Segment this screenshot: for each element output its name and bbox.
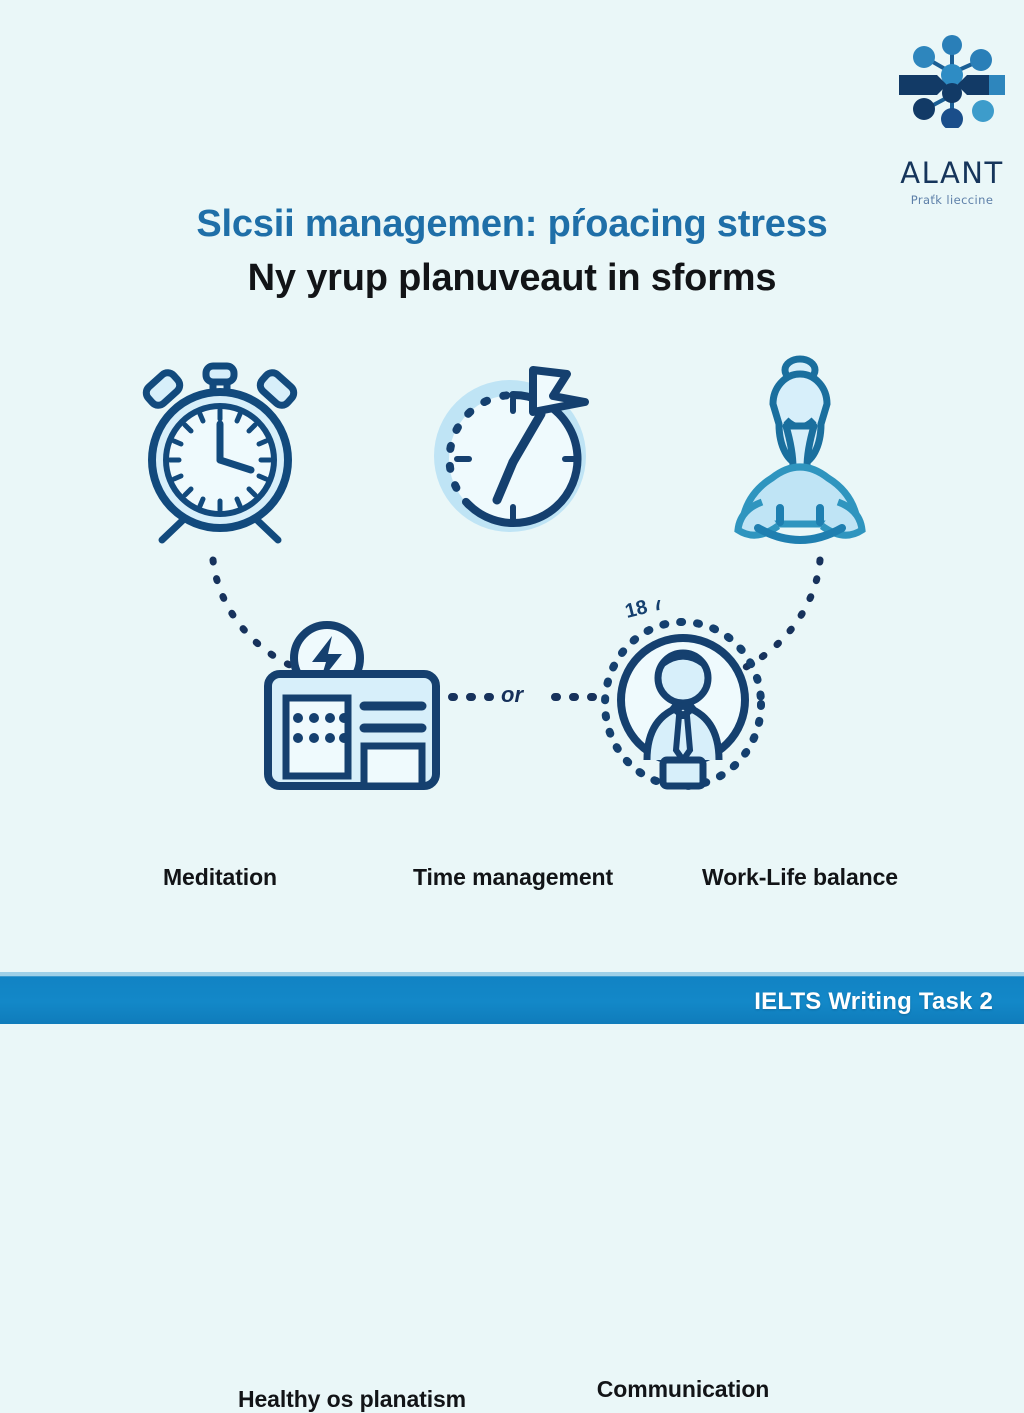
item-label-communication: Communication	[597, 1376, 769, 1403]
meditating-person-icon	[700, 352, 900, 552]
clock-arrow-icon	[413, 352, 613, 552]
alarm-clock-icon	[120, 352, 320, 552]
headline-secondary: Ny yrup planuveaut in sforms	[0, 257, 1024, 300]
dashed-line-left	[448, 690, 506, 704]
or-separator-label: or	[0, 682, 1024, 708]
footer-banner: IELTS Writing Task 2	[0, 976, 1024, 1024]
item-healthy[interactable]: Healthy os planatism	[252, 610, 452, 810]
item-label-healthy: Healthy os planatism	[238, 1386, 466, 1413]
item-label-work-life-balance: Work-Life balance	[702, 864, 898, 891]
item-meditation[interactable]: Meditation	[120, 352, 320, 552]
item-work-life-balance[interactable]: Work-Life balance	[700, 352, 900, 552]
network-nodes-icon	[893, 33, 1011, 128]
headline-primary: Slcsii managemen: pŕoacing stress	[0, 203, 1024, 246]
item-label-time-management: Time management	[413, 864, 613, 891]
factory-bolt-icon	[252, 610, 452, 810]
brand-logo: ALANT Praťk lieccine	[893, 33, 1011, 188]
item-label-meditation: Meditation	[163, 864, 277, 891]
logo-wordmark: ALANT	[893, 159, 1011, 188]
badge-count: 18 7	[623, 600, 666, 623]
item-time-management[interactable]: Time management	[413, 352, 613, 552]
footer-label: IELTS Writing Task 2	[754, 988, 993, 1016]
dashed-line-right	[551, 690, 609, 704]
